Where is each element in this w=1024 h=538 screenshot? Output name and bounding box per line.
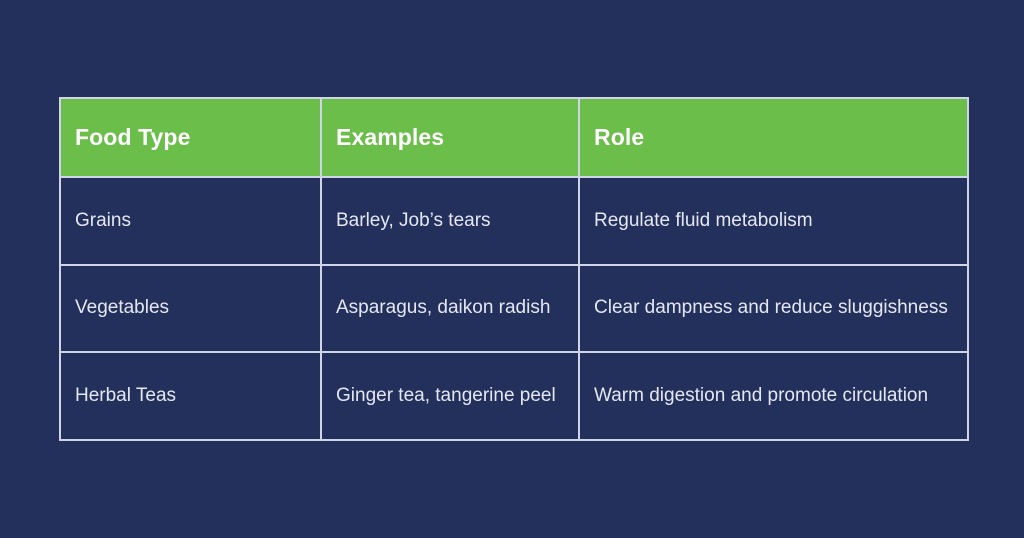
column-header-role: Role — [578, 97, 969, 178]
cell-food-type: Vegetables — [59, 266, 320, 354]
cell-food-type: Herbal Teas — [59, 353, 320, 441]
table-row: Vegetables Asparagus, daikon radish Clea… — [59, 266, 969, 354]
table-row: Herbal Teas Ginger tea, tangerine peel W… — [59, 353, 969, 441]
column-header-food-type: Food Type — [59, 97, 320, 178]
food-type-table-container: Food Type Examples Role Grains Barley, J… — [59, 97, 969, 441]
food-type-table: Food Type Examples Role Grains Barley, J… — [59, 97, 969, 441]
cell-role: Warm digestion and promote circulation — [578, 353, 969, 441]
cell-role: Clear dampness and reduce sluggishness — [578, 266, 969, 354]
cell-examples: Barley, Job’s tears — [320, 178, 578, 266]
cell-food-type: Grains — [59, 178, 320, 266]
table-header: Food Type Examples Role — [59, 97, 969, 178]
table-row: Grains Barley, Job’s tears Regulate flui… — [59, 178, 969, 266]
cell-examples: Asparagus, daikon radish — [320, 266, 578, 354]
cell-examples: Ginger tea, tangerine peel — [320, 353, 578, 441]
column-header-examples: Examples — [320, 97, 578, 178]
table-header-row: Food Type Examples Role — [59, 97, 969, 178]
table-body: Grains Barley, Job’s tears Regulate flui… — [59, 178, 969, 441]
slide-canvas: Food Type Examples Role Grains Barley, J… — [0, 0, 1024, 538]
cell-role: Regulate fluid metabolism — [578, 178, 969, 266]
